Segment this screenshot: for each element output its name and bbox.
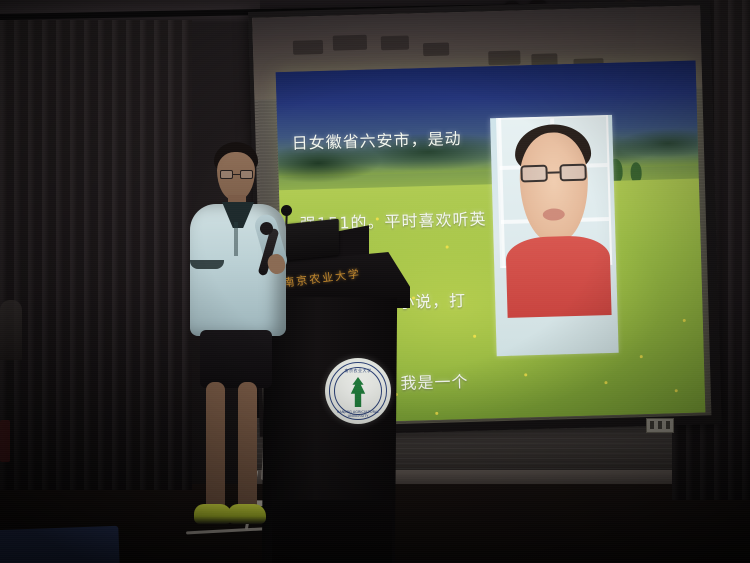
glasses-bridge	[233, 174, 240, 175]
banner-text-block	[333, 35, 367, 51]
glasses-lens-left	[220, 170, 233, 179]
slide-flower	[683, 319, 686, 322]
glasses-lens-right	[559, 164, 586, 182]
speaker-sleeve-trim	[190, 260, 224, 269]
banner-text-block	[381, 36, 409, 51]
speaker-leg	[238, 382, 257, 512]
light-switch[interactable]	[666, 421, 670, 429]
banner-text-block	[423, 42, 449, 56]
portrait-red-shirt	[505, 235, 611, 318]
university-emblem: 南京农业大学 NANJING AGRICULTURAL UNIVERSITY	[325, 358, 391, 424]
slide-flower	[675, 389, 678, 392]
speaker-glasses-icon	[220, 170, 253, 179]
light-switch[interactable]	[650, 421, 654, 429]
glasses-lens-left	[520, 165, 547, 183]
blue-chair	[0, 526, 120, 563]
speaker-shirt-placket	[234, 222, 238, 256]
emblem-top-text: 南京农业大学	[337, 368, 379, 374]
stage-curtain-left	[0, 20, 192, 490]
emblem-bottom-text: NANJING AGRICULTURAL UNIVERSITY	[333, 410, 383, 418]
glasses-bridge	[548, 171, 560, 173]
speaker-leg	[206, 382, 225, 512]
banner-text-block	[293, 40, 323, 55]
audience-silhouette	[0, 300, 22, 360]
light-switch-panel[interactable]	[646, 418, 674, 433]
speaker-sneaker	[194, 504, 232, 524]
slide-flower	[604, 381, 607, 384]
red-object	[0, 420, 10, 462]
banner-text-block	[488, 50, 520, 65]
slide-flower	[640, 355, 643, 358]
speaker-shorts	[200, 330, 272, 388]
light-switch[interactable]	[658, 421, 662, 429]
student-portrait-photo	[490, 115, 619, 356]
presenting-student	[176, 142, 296, 563]
speaker-sneaker	[228, 504, 266, 524]
auditorium-photo: 日女徽省六安市，是动 强151的。平时喜欢听英 文歌，看科幻小说，打 排球，游泳…	[0, 0, 750, 563]
glasses-lens-right	[240, 170, 253, 179]
portrait-glasses-icon	[520, 164, 586, 184]
